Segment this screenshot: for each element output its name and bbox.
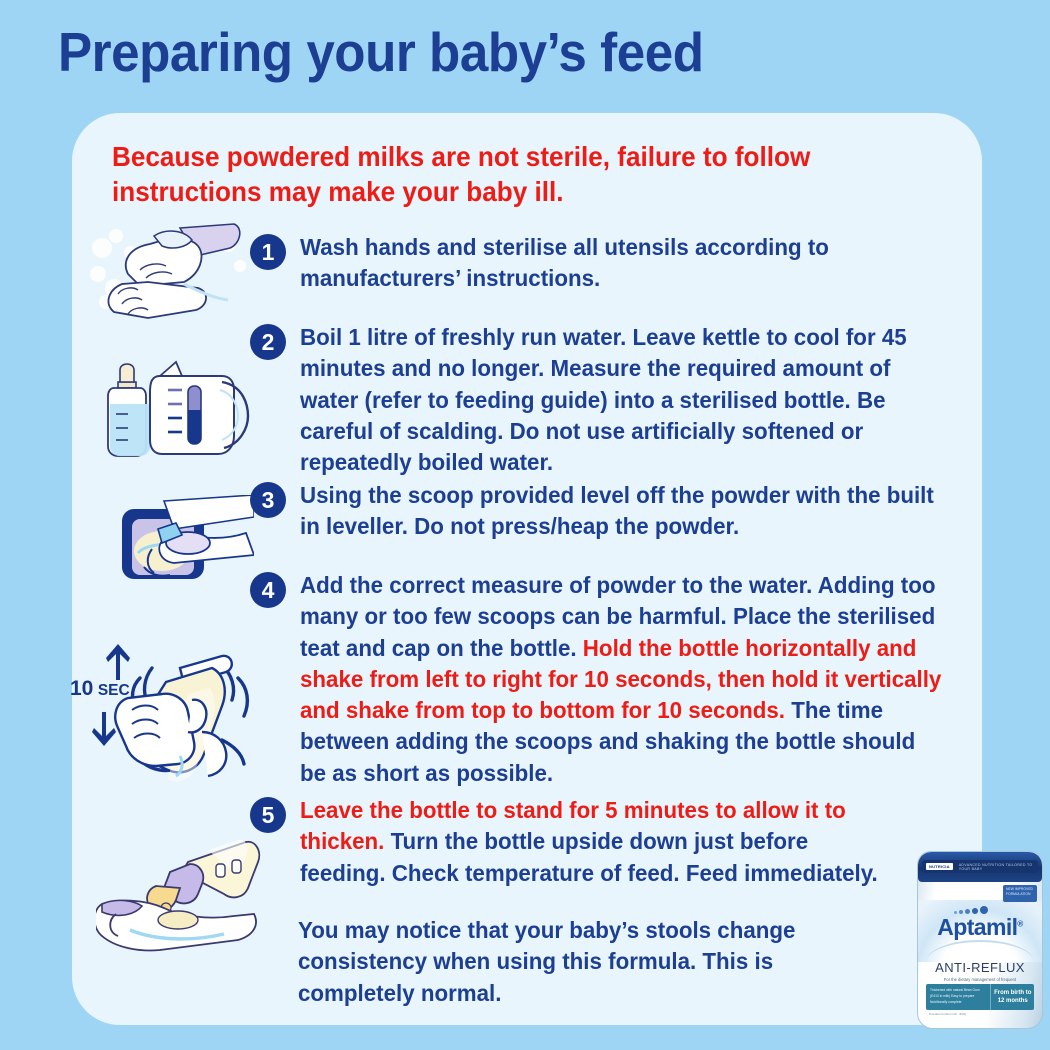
tin-descriptor: For the dietary management of frequent: [928, 977, 1032, 983]
wrist-temperature-test-illustration: [96, 838, 268, 960]
tin-lid: NUTRICIA ADVANCED NUTRITION TAILORED TO …: [918, 852, 1042, 882]
tin-brand-text: Aptamil: [937, 914, 1017, 940]
step-item: 2 Boil 1 litre of freshly run water. Lea…: [250, 322, 980, 478]
step-item: 5 Leave the bottle to stand for 5 minute…: [250, 795, 910, 889]
step-segment: Wash hands and sterilise all utensils ac…: [300, 234, 829, 291]
step-number-badge: 5: [250, 797, 286, 833]
step-item: 4 Add the correct measure of powder to t…: [250, 570, 978, 789]
step-text: Wash hands and sterilise all utensils ac…: [300, 232, 937, 295]
tin-bottom-strip: Powdered infant milk · 800g: [926, 1012, 1034, 1020]
tin-body: NUTRICIA ADVANCED NUTRITION TAILORED TO …: [917, 851, 1043, 1029]
nutricia-logo: NUTRICIA: [926, 863, 953, 870]
step-segment: Using the scoop provided level off the p…: [300, 482, 934, 539]
step-number-badge: 3: [250, 482, 286, 518]
scoop-levelling-illustration: [104, 495, 254, 583]
washing-hands-illustration: [88, 222, 250, 322]
tin-brand-name: Aptamil®: [918, 914, 1042, 941]
step-text: Leave the bottle to stand for 5 minutes …: [300, 795, 880, 889]
tin-footer-bullets: Thickened with natural Bean Gum (E410 in…: [926, 984, 991, 1010]
closing-paragraph: You may notice that your baby’s stools c…: [298, 915, 868, 1009]
step-number-badge: 4: [250, 572, 286, 608]
step-number-badge: 2: [250, 324, 286, 360]
step-text: Add the correct measure of powder to the…: [300, 570, 944, 789]
step-item: 1 Wash hands and sterilise all utensils …: [250, 232, 970, 295]
warning-headline: Because powdered milks are not sterile, …: [112, 139, 910, 209]
page-title: Preparing your baby’s feed: [58, 22, 703, 83]
shaking-bottle-illustration: [62, 636, 262, 784]
step-number-badge: 1: [250, 234, 286, 270]
tin-lid-band: NUTRICIA ADVANCED NUTRITION TAILORED TO …: [922, 860, 1038, 873]
tin-age-range: From birth to 12 months: [991, 984, 1034, 1010]
tin-variant-name: ANTI-REFLUX: [918, 960, 1042, 975]
tin-brand-mark: ®: [1017, 919, 1022, 928]
tin-footer-panel: Thickened with natural Bean Gum (E410 in…: [926, 984, 1034, 1010]
step-item: 3 Using the scoop provided level off the…: [250, 480, 980, 543]
product-tin: NUTRICIA ADVANCED NUTRITION TAILORED TO …: [917, 851, 1043, 1029]
tin-new-formulation-badge: NEW IMPROVED FORMULATION: [1003, 885, 1037, 902]
step-text: Using the scoop provided level off the p…: [300, 480, 946, 543]
kettle-and-bottle-illustration: [88, 352, 256, 462]
step-segment: Boil 1 litre of freshly run water. Leave…: [300, 324, 907, 475]
infographic-root: Preparing your baby’s feed Because powde…: [0, 0, 1050, 1050]
tin-lid-text: ADVANCED NUTRITION TAILORED TO YOUR BABY: [959, 863, 1038, 871]
tin-dots-graphic: [954, 906, 988, 914]
step-text: Boil 1 litre of freshly run water. Leave…: [300, 322, 946, 478]
